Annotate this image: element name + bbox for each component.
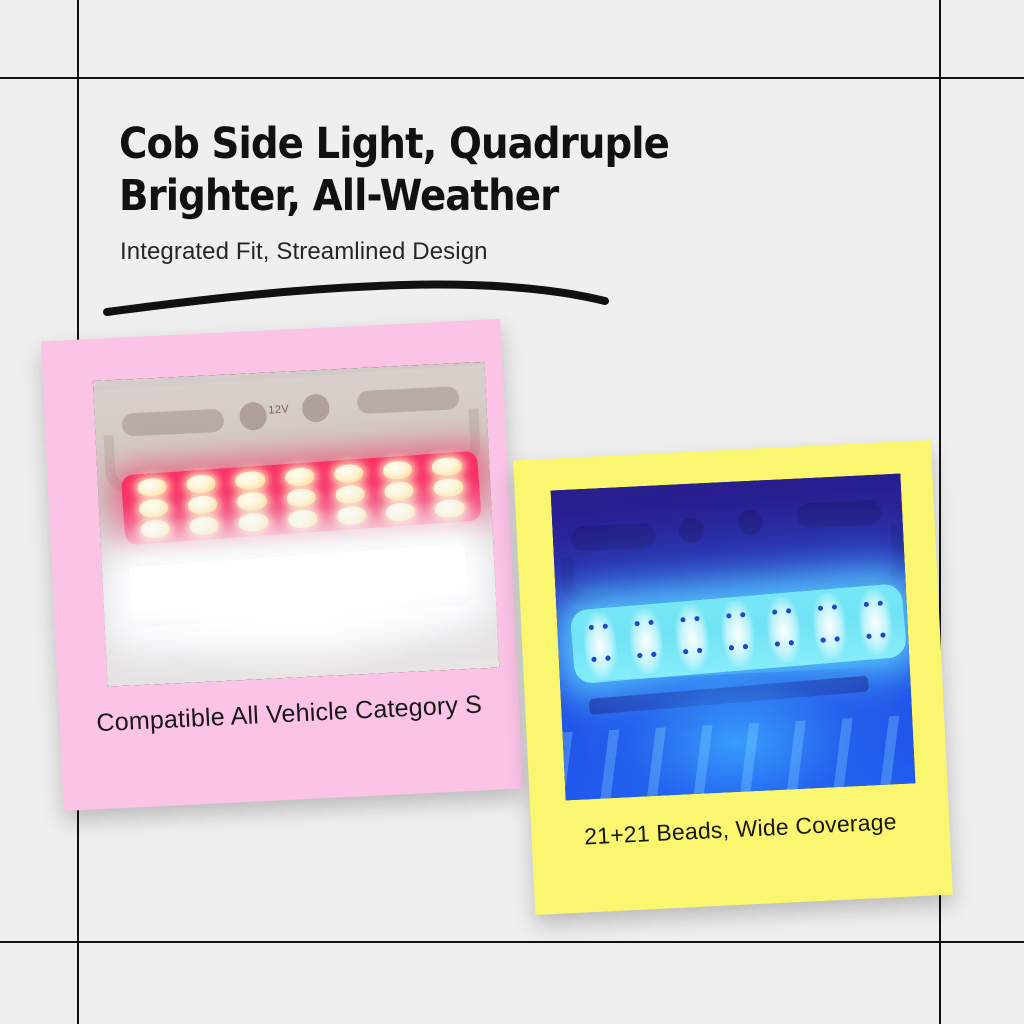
page-title-line-1: Cob Side Light, Quadruple: [119, 119, 669, 169]
led-bead-cluster: [136, 477, 169, 539]
led-bead-cell: [857, 588, 895, 656]
housing-notch-right-blue: [842, 523, 906, 594]
polaroid-caption-yellow: 21+21 Beads, Wide Coverage: [531, 806, 950, 853]
grid-line-horizontal-top: [0, 77, 1024, 79]
led-bead-cluster: [284, 467, 317, 529]
blue-cob-side-light-photo: [551, 474, 916, 801]
polaroid-card-pink[interactable]: 12V Compatible All Vehicle Category S: [41, 319, 523, 811]
grid-line-horizontal-bottom: [0, 941, 1024, 943]
mounting-slot-right-blue: [797, 499, 882, 528]
led-bead-cell: [765, 596, 803, 664]
page-title: Cob Side Light, Quadruple Brighter, All-…: [119, 118, 819, 223]
led-bead-cluster: [431, 456, 464, 518]
led-bead-cluster: [186, 474, 219, 536]
mounting-slot-left-blue: [570, 523, 655, 552]
photo-frame-red-light: 12V: [93, 362, 499, 687]
hand-drawn-swoosh-underline-icon: [103, 272, 623, 322]
led-bead-cell: [719, 600, 757, 668]
white-light-glow: [102, 551, 499, 686]
led-bead-cluster: [333, 463, 366, 525]
led-bead-cell: [582, 611, 620, 679]
screw-hole-left-blue: [678, 517, 704, 543]
led-bead-cluster: [235, 470, 268, 532]
led-bead-cell: [673, 603, 711, 671]
polaroid-card-yellow[interactable]: 21+21 Beads, Wide Coverage: [513, 440, 953, 915]
photo-frame-blue-light: [551, 474, 916, 801]
page-subtitle: Integrated Fit, Streamlined Design: [120, 238, 488, 266]
red-cob-side-light-photo: 12V: [93, 362, 499, 687]
poster-canvas: Cob Side Light, Quadruple Brighter, All-…: [0, 0, 1024, 1024]
led-bead-cell: [811, 592, 849, 660]
voltage-label: 12V: [268, 403, 290, 416]
led-bead-cluster: [382, 460, 415, 522]
polaroid-caption-pink: Compatible All Vehicle Category S: [59, 689, 520, 740]
page-title-line-2: Brighter, All-Weather: [119, 170, 819, 222]
led-bead-cell: [628, 607, 666, 675]
